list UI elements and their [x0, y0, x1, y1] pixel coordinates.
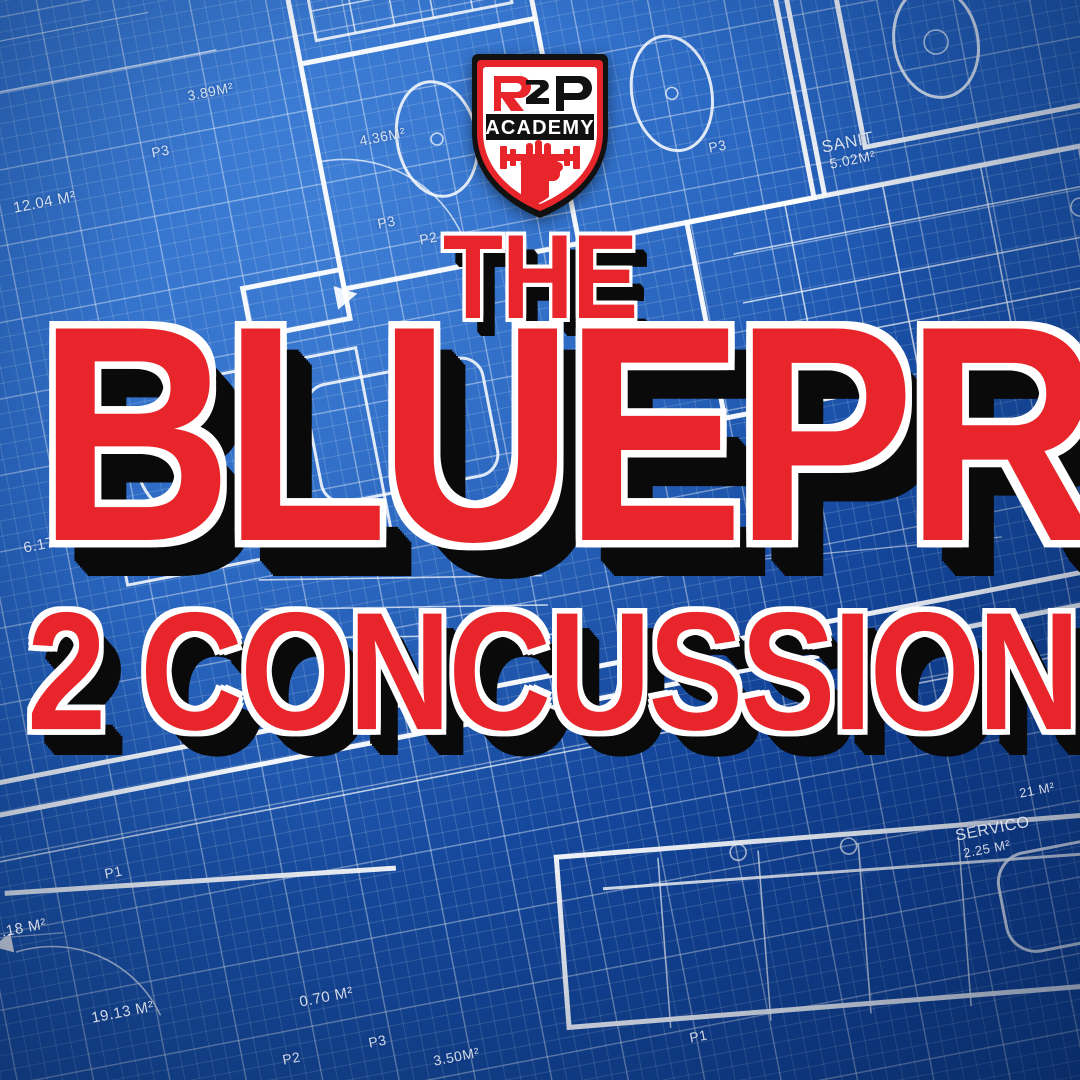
headline-line-subtitle: 2 CONCUSSION REHAB — [27, 603, 1053, 741]
blueprint-label: P2 — [281, 1049, 302, 1068]
blueprint-label: P3 — [367, 1032, 388, 1051]
poster-canvas: 12.04 M²3.89M²P34.36M²P3P2P3SANIT5.02M²6… — [0, 0, 1080, 1080]
poster-headline: THE BLUEPRINTS 2 CONCUSSION REHAB — [0, 228, 1080, 733]
shield-icon: ACADEMY — [464, 50, 616, 222]
blueprint-label: P3 — [150, 142, 171, 161]
headline-line-blueprints: BLUEPRINTS — [38, 309, 1042, 561]
blueprint-label: P1 — [688, 1027, 709, 1046]
logo-wordmark: ACADEMY — [485, 117, 595, 139]
blueprint-label: P3 — [707, 137, 728, 156]
blueprint-label: P1 — [103, 863, 124, 882]
r2p-academy-logo[interactable]: ACADEMY — [464, 50, 616, 222]
